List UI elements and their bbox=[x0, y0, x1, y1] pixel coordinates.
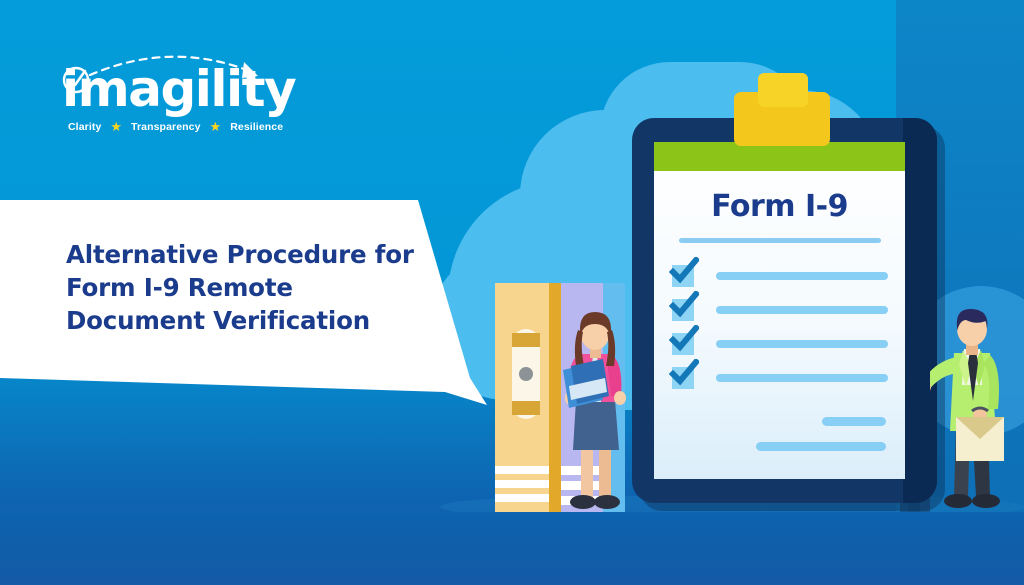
checklist-row-line bbox=[716, 306, 888, 314]
form-title: Form I-9 bbox=[654, 189, 905, 224]
checklist-row[interactable] bbox=[672, 361, 905, 395]
checklist-row[interactable] bbox=[672, 259, 905, 293]
clipboard-clip-top-icon bbox=[758, 73, 808, 107]
form-header-bar bbox=[654, 142, 905, 171]
check-circle-icon bbox=[62, 48, 277, 98]
signature-line bbox=[822, 417, 886, 426]
headline-line-2: Form I-9 Remote bbox=[66, 271, 426, 304]
checklist-row-line bbox=[716, 374, 888, 382]
tagline-word-transparency: Transparency bbox=[131, 121, 201, 133]
tagline-word-resilience: Resilience bbox=[230, 121, 283, 133]
brand-logo[interactable]: imagility Clarity ★ Transparency ★ Resil… bbox=[62, 48, 282, 133]
logo-mark bbox=[62, 48, 282, 94]
banner-root: Form I-9 bbox=[0, 0, 1024, 585]
man-with-briefcase bbox=[930, 305, 1012, 520]
tagline-word-clarity: Clarity bbox=[68, 121, 101, 133]
headline-line-3: Document Verification bbox=[66, 304, 426, 337]
logo-tagline: Clarity ★ Transparency ★ Resilience bbox=[62, 120, 282, 133]
form-checklist bbox=[654, 259, 905, 395]
checklist-row[interactable] bbox=[672, 327, 905, 361]
form-title-rule bbox=[679, 238, 881, 243]
form-signature-block bbox=[654, 417, 905, 451]
form-clipboard: Form I-9 bbox=[632, 118, 937, 503]
checkbox-checked-icon[interactable] bbox=[672, 265, 694, 287]
woman-with-folders bbox=[559, 310, 631, 519]
checklist-row[interactable] bbox=[672, 293, 905, 327]
signature-line bbox=[756, 442, 886, 451]
star-icon: ★ bbox=[110, 120, 122, 133]
checkbox-checked-icon[interactable] bbox=[672, 333, 694, 355]
floor bbox=[0, 512, 1024, 585]
checklist-row-line bbox=[716, 272, 888, 280]
headline-line-1: Alternative Procedure for bbox=[66, 238, 426, 271]
form-paper: Form I-9 bbox=[654, 142, 905, 479]
page-title: Alternative Procedure for Form I-9 Remot… bbox=[66, 238, 426, 337]
star-icon: ★ bbox=[210, 120, 222, 133]
checkbox-checked-icon[interactable] bbox=[672, 367, 694, 389]
checkbox-checked-icon[interactable] bbox=[672, 299, 694, 321]
checklist-row-line bbox=[716, 340, 888, 348]
